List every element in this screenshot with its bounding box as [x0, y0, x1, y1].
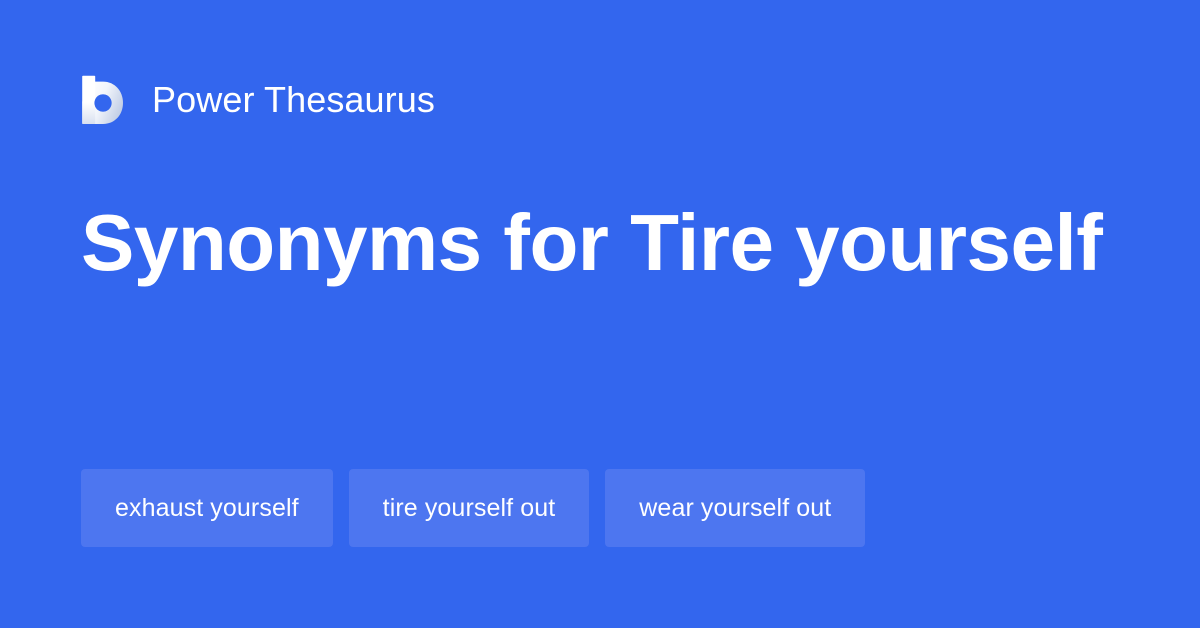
power-thesaurus-b-logo-icon [80, 75, 124, 125]
page-title: Synonyms for Tire yourself [81, 188, 1121, 298]
brand-lockup[interactable]: Power Thesaurus [80, 70, 435, 130]
synonym-chip[interactable]: tire yourself out [349, 469, 590, 547]
synonym-chip[interactable]: wear yourself out [605, 469, 865, 547]
brand-logo-wrap [80, 75, 124, 125]
brand-name: Power Thesaurus [152, 82, 435, 118]
synonym-chip[interactable]: exhaust yourself [81, 469, 333, 547]
og-card: Power Thesaurus Synonyms for Tire yourse… [0, 0, 1200, 628]
synonym-chip-list: exhaust yourself tire yourself out wear … [81, 469, 1120, 547]
